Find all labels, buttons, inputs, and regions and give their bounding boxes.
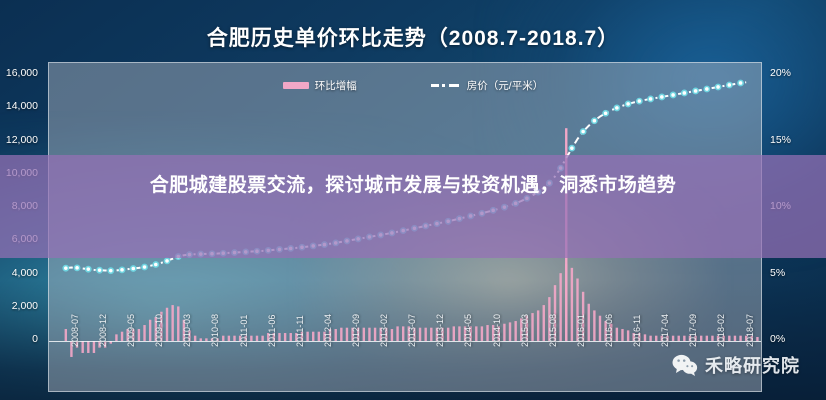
- bar: [509, 322, 511, 341]
- x-axis-label: 2018-07: [745, 314, 755, 347]
- bar: [599, 316, 601, 341]
- legend-label-growth: 环比增幅: [315, 78, 357, 93]
- bar: [402, 326, 404, 341]
- price-marker: [670, 92, 675, 97]
- x-axis-label: 2016-06: [604, 314, 614, 347]
- bar: [458, 326, 460, 341]
- bar: [374, 328, 376, 341]
- bar: [616, 328, 618, 341]
- bar: [166, 308, 168, 341]
- x-axis-label: 2014-05: [463, 314, 473, 347]
- x-axis-label: 2008-07: [70, 314, 80, 347]
- bar: [481, 326, 483, 341]
- x-axis-label: 2014-10: [492, 314, 502, 347]
- legend-label-price: 房价（元/平米）: [467, 78, 543, 93]
- bar: [65, 329, 67, 341]
- price-marker: [637, 99, 642, 104]
- bar: [593, 310, 595, 341]
- price-marker: [614, 105, 619, 110]
- bar: [531, 313, 533, 341]
- price-marker: [592, 118, 597, 123]
- bar: [503, 324, 505, 341]
- bar: [644, 334, 646, 341]
- bar: [368, 328, 370, 341]
- x-axis-label: 2013-02: [379, 314, 389, 347]
- bar: [486, 325, 488, 341]
- price-marker: [626, 101, 631, 106]
- x-axis-label: 2018-02: [716, 314, 726, 347]
- bar: [559, 273, 561, 341]
- bar: [391, 329, 393, 341]
- price-marker: [153, 262, 158, 267]
- bar: [143, 325, 145, 341]
- x-axis-label: 2009-05: [126, 314, 136, 347]
- bar: [571, 268, 573, 341]
- bar: [121, 332, 123, 341]
- price-marker: [74, 265, 79, 270]
- bar: [588, 304, 590, 341]
- bar: [312, 332, 314, 341]
- y2-axis-label: 15%: [770, 134, 791, 146]
- bar: [138, 329, 140, 341]
- legend-item-price: 房价（元/平米）: [431, 78, 543, 93]
- x-axis-label: 2017-04: [660, 314, 670, 347]
- bar: [318, 332, 320, 341]
- bar: [543, 305, 545, 341]
- chart-title: 合肥历史单价环比走势（2008.7-2018.7）: [0, 22, 826, 52]
- x-axis-label: 2015-03: [520, 314, 530, 347]
- bar: [363, 328, 365, 341]
- x-axis-label: 2011-11: [295, 315, 305, 347]
- x-axis-label: 2010-03: [182, 314, 192, 347]
- price-marker: [603, 111, 608, 116]
- bar: [306, 332, 308, 341]
- y-axis-label: 2,000: [12, 300, 38, 312]
- y-axis-label: 14,000: [6, 100, 38, 112]
- legend-item-growth: 环比增幅: [283, 78, 357, 93]
- chart-legend: 环比增幅 房价（元/平米）: [0, 78, 826, 93]
- x-axis-label: 2009-10: [154, 314, 164, 347]
- price-marker: [569, 146, 574, 151]
- price-marker: [659, 94, 664, 99]
- x-axis-label: 2017-09: [688, 314, 698, 347]
- bar: [149, 320, 151, 341]
- bar: [335, 329, 337, 341]
- bar: [627, 330, 629, 341]
- x-axis-label: 2012-09: [351, 314, 361, 347]
- bar: [115, 334, 117, 341]
- watermark: 禾略研究院: [672, 352, 800, 378]
- bar: [475, 326, 477, 341]
- bar: [81, 341, 83, 353]
- x-axis-label: 2011-01: [239, 315, 249, 347]
- price-marker: [86, 267, 91, 272]
- price-marker: [164, 258, 169, 263]
- legend-line-swatch: [431, 81, 461, 90]
- bar: [93, 341, 95, 353]
- bar: [171, 305, 173, 341]
- price-marker: [131, 266, 136, 271]
- y-axis-label: 4,000: [12, 267, 38, 279]
- bar: [87, 341, 89, 353]
- bar: [396, 326, 398, 341]
- price-marker: [119, 267, 124, 272]
- bar: [424, 328, 426, 341]
- x-axis-label: 2010-08: [210, 314, 220, 347]
- bar: [419, 328, 421, 341]
- bar: [430, 328, 432, 341]
- price-marker: [97, 268, 102, 273]
- x-axis-label: 2013-12: [435, 314, 445, 347]
- bar: [340, 328, 342, 341]
- bar: [621, 329, 623, 341]
- x-axis-label: 2011-06: [267, 315, 277, 347]
- x-axis-label: 2016-01: [576, 314, 586, 347]
- x-axis-label: 2013-07: [407, 314, 417, 347]
- x-axis-label: 2008-12: [98, 314, 108, 347]
- price-marker: [108, 268, 113, 273]
- bar: [447, 328, 449, 341]
- y-axis-label: 0: [32, 333, 38, 345]
- price-marker: [142, 264, 147, 269]
- x-axis-label: 2016-11: [632, 315, 642, 347]
- x-axis-label: 2015-08: [548, 314, 558, 347]
- bar: [537, 310, 539, 341]
- price-marker: [648, 96, 653, 101]
- y-axis-label: 12,000: [6, 134, 38, 146]
- watermark-text: 禾略研究院: [705, 352, 800, 378]
- overlay-caption: 合肥城建股票交流，探讨城市发展与投资机遇，洞悉市场趋势: [0, 168, 826, 203]
- wechat-icon: [672, 354, 698, 376]
- x-axis-label: 2012-04: [323, 314, 333, 347]
- y2-axis-label: 0%: [770, 333, 785, 345]
- bar: [290, 333, 292, 341]
- bar: [514, 321, 516, 341]
- bar: [284, 333, 286, 341]
- bar: [453, 326, 455, 341]
- bar: [177, 306, 179, 341]
- bar: [278, 333, 280, 341]
- price-marker: [63, 266, 68, 271]
- chart-screenshot: 2008-072008-122009-052009-102010-032010-…: [0, 0, 826, 400]
- y2-axis-label: 5%: [770, 267, 785, 279]
- legend-bar-swatch: [283, 82, 309, 89]
- price-marker: [581, 129, 586, 134]
- bar: [346, 328, 348, 341]
